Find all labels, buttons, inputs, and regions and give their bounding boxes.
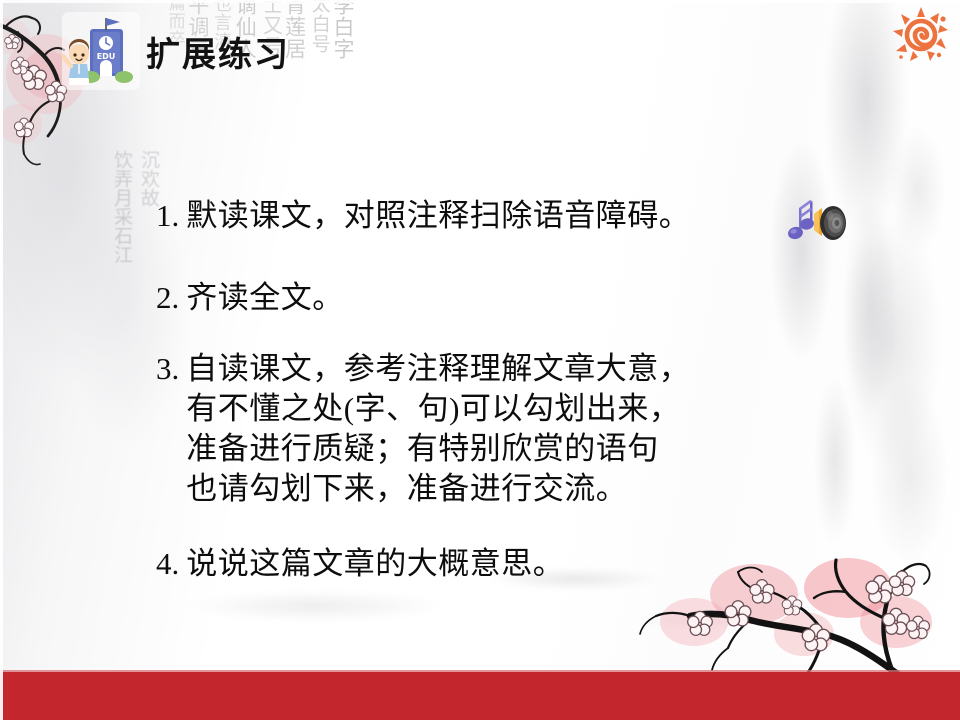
list-item-line: 也请勾划下来，准备进行交流。 <box>186 469 816 509</box>
list-item-text: 齐读全文。 <box>186 278 816 318</box>
list-item-line: 准备进行质疑；有特别欣赏的语句 <box>186 429 816 469</box>
list-item-number: 3. <box>156 349 186 389</box>
calligraphy-column: 饮弄月采石江 <box>110 150 131 340</box>
sunburst-icon <box>892 6 950 64</box>
list-item-number: 2. <box>156 278 186 318</box>
page-title: 扩展练习 <box>146 38 290 72</box>
list-item: 4. 说说这篇文章的大概意思。 <box>156 544 816 584</box>
list-item-line: 有不懂之处(字、句)可以勾划出来， <box>186 389 816 429</box>
list-item-text: 默读课文，对照注释扫除语音障碍。 <box>186 196 816 236</box>
list-item-line: 齐读全文。 <box>186 278 816 318</box>
list-item-line: 说说这篇文章的大概意思。 <box>186 544 816 584</box>
list-item-text: 自读课文，参考注释理解文章大意， 有不懂之处(字、句)可以勾划出来， 准备进行质… <box>186 349 816 510</box>
list-item-number: 4. <box>156 544 186 584</box>
list-item: 3. 自读课文，参考注释理解文章大意， 有不懂之处(字、句)可以勾划出来， 准备… <box>156 349 816 510</box>
calligraphy-watermark-lower: 沉欢故 饮弄月采石江 <box>28 150 158 340</box>
list-item: 1. 默读课文，对照注释扫除语音障碍。 <box>156 196 816 236</box>
list-item-line: 默读课文，对照注释扫除语音障碍。 <box>186 196 816 236</box>
list-item-text: 说说这篇文章的大概意思。 <box>186 544 816 584</box>
edu-mascot-icon: EDU <box>62 12 140 90</box>
list-item: 2. 齐读全文。 <box>156 278 816 318</box>
practice-list: 1. 默读课文，对照注释扫除语音障碍。 2. 齐读全文。 3. 自读课文，参考注… <box>156 196 816 584</box>
calligraphy-column: 沉欢故 <box>137 150 158 340</box>
slide-left-edge <box>0 0 3 720</box>
slide-top-edge <box>0 0 960 3</box>
bottom-red-band <box>0 672 960 720</box>
logo-edu-text: EDU <box>97 52 116 61</box>
list-item-number: 1. <box>156 196 186 236</box>
list-item-line: 自读课文，参考注释理解文章大意， <box>186 349 816 389</box>
slide-canvas: 李白字 太白号 青莲居 士又号 谪仙人 也言清 平调三 篇而卒 沉欢故 饮弄月采… <box>0 0 960 720</box>
